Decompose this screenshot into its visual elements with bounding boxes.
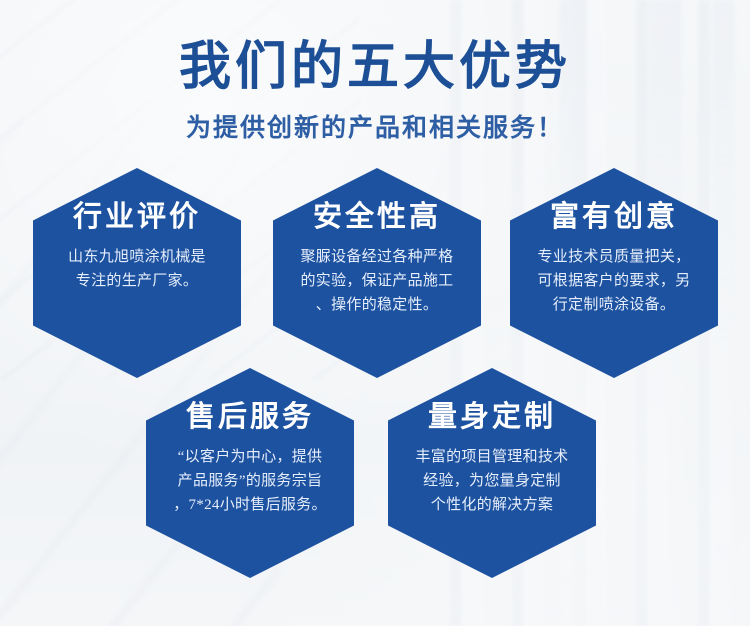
advantage-description-line: 聚脲设备经过各种严格 [279,245,475,269]
advantage-title: 售后服务 [186,402,314,434]
advantage-description-line: 经验，为您量身定制 [394,469,590,493]
advantage-description: 专业技术员质量把关， 可根据客户的要求，另 行定制喷涂设备。 [516,245,712,318]
advantage-title: 安全性高 [313,202,441,234]
advantage-description-line: 个性化的解决方案 [394,493,590,517]
advantage-title: 量身定制 [428,402,556,434]
advantage-description-line: 丰富的项目管理和技术 [394,445,590,469]
advantage-description-line: 行定制喷涂设备。 [516,293,712,317]
page-subtitle: 为提供创新的产品和相关服务！ [0,108,750,144]
advantage-description-line: 专业技术员质量把关， [516,245,712,269]
advantage-description-line: 、操作的稳定性。 [279,293,475,317]
advantage-description-line: 专注的生产厂家。 [39,269,235,293]
advantage-description-line: 山东九旭喷涂机械是 [39,245,235,269]
advantage-description-line: 的实验，保证产品施工 [279,269,475,293]
banner-heading: 我们的五大优势 为提供创新的产品和相关服务！ [0,38,750,144]
advantage-description-line: ，7*24小时售后服务。 [152,493,348,517]
advantage-title: 富有创意 [550,202,678,234]
advantages-banner: 我们的五大优势 为提供创新的产品和相关服务！ 行业评价 山东九旭喷涂机械是 专注… [0,0,750,626]
advantage-description: 山东九旭喷涂机械是 专注的生产厂家。 [39,245,235,294]
advantage-description: 丰富的项目管理和技术 经验，为您量身定制 个性化的解决方案 [394,445,590,518]
advantage-title: 行业评价 [73,202,201,234]
page-title: 我们的五大优势 [0,38,750,98]
advantage-description-line: 可根据客户的要求，另 [516,269,712,293]
advantage-description: 聚脲设备经过各种严格 的实验，保证产品施工 、操作的稳定性。 [279,245,475,318]
advantage-description-line: 产品服务”的服务宗旨 [152,469,348,493]
advantage-description: “以客户为中心，提供 产品服务”的服务宗旨 ，7*24小时售后服务。 [152,445,348,518]
advantage-description-line: “以客户为中心，提供 [152,445,348,469]
